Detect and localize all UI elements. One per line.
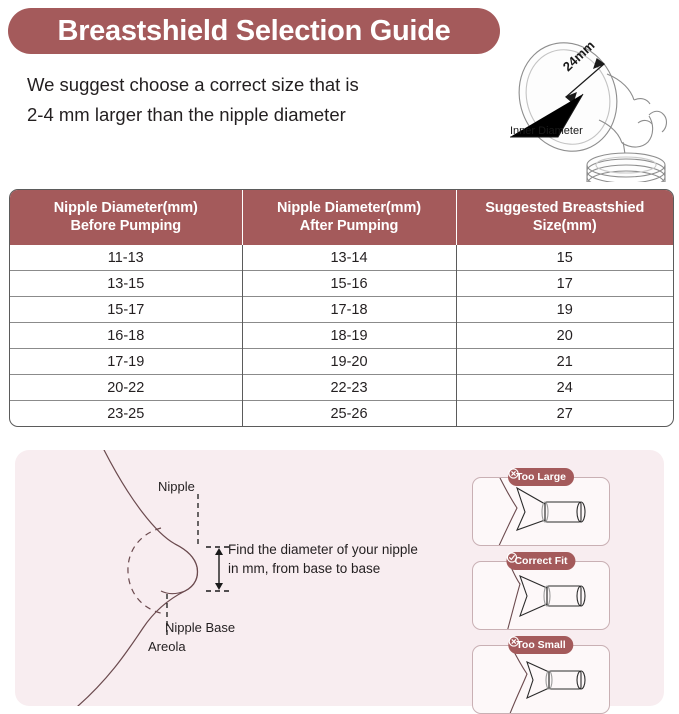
cell-suggested-size: 19: [456, 297, 673, 323]
label-nipple-base: Nipple Base: [165, 620, 235, 635]
table-header-cell-1: Nipple Diameter(mm) After Pumping: [242, 190, 456, 245]
fit-card-too-large: Too Large: [472, 477, 610, 546]
fit-card-correct-fit: Correct Fit: [472, 561, 610, 630]
cell-after-pumping: 22-23: [242, 375, 456, 401]
header-line-2: After Pumping: [247, 217, 452, 235]
flange-too-large-drawing: [473, 478, 609, 545]
table-row: 16-18 18-19 20: [10, 323, 673, 349]
cell-suggested-size: 24: [456, 375, 673, 401]
cross-circle-icon: [508, 468, 519, 479]
cell-suggested-size: 15: [456, 245, 673, 271]
cell-after-pumping: 17-18: [242, 297, 456, 323]
table-header-row: Nipple Diameter(mm) Before Pumping Nippl…: [10, 190, 673, 245]
page-title: Breastshield Selection Guide: [58, 17, 451, 46]
header-line-1: Nipple Diameter(mm): [14, 199, 238, 217]
table-row: 20-22 22-23 24: [10, 375, 673, 401]
fit-badge-label: Correct Fit: [514, 555, 567, 567]
anatomy-drawing: [15, 450, 475, 706]
label-nipple: Nipple: [158, 479, 195, 494]
header-line-2: Size(mm): [461, 217, 670, 235]
fit-badge-label: Too Large: [516, 471, 566, 483]
cross-circle-icon: [508, 636, 519, 647]
breastshield-drawing: 24mm Inner Diameter: [486, 2, 679, 182]
measure-line-1: Find the diameter of your nipple: [228, 540, 418, 559]
cell-after-pumping: 25-26: [242, 401, 456, 427]
header-line-2: Before Pumping: [14, 217, 238, 235]
table-row: 11-13 13-14 15: [10, 245, 673, 271]
fit-badge-correct-fit: Correct Fit: [506, 552, 575, 570]
fit-card-too-small: Too Small: [472, 645, 610, 714]
cell-suggested-size: 17: [456, 271, 673, 297]
measure-instruction: Find the diameter of your nipple in mm, …: [228, 540, 418, 578]
table-header-cell-0: Nipple Diameter(mm) Before Pumping: [10, 190, 242, 245]
inner-diameter-caption: Inner Diameter: [510, 125, 583, 137]
cell-suggested-size: 27: [456, 401, 673, 427]
breastshield-illustration: 24mm Inner Diameter: [486, 2, 679, 182]
size-table: Nipple Diameter(mm) Before Pumping Nippl…: [10, 190, 673, 426]
header-line-1: Suggested Breastshied: [461, 199, 670, 217]
cell-before-pumping: 23-25: [10, 401, 242, 427]
flange-too-small-drawing: [473, 646, 609, 713]
fit-badge-too-small: Too Small: [508, 636, 573, 654]
check-circle-icon: [506, 552, 517, 563]
table-row: 13-15 15-16 17: [10, 271, 673, 297]
fit-badge-too-large: Too Large: [508, 468, 574, 486]
breast-anatomy-diagram: [15, 450, 475, 706]
header-line-1: Nipple Diameter(mm): [247, 199, 452, 217]
cell-suggested-size: 21: [456, 349, 673, 375]
label-areola: Areola: [148, 639, 186, 654]
cell-before-pumping: 17-19: [10, 349, 242, 375]
table-row: 15-17 17-18 19: [10, 297, 673, 323]
measure-line-2: in mm, from base to base: [228, 559, 418, 578]
page-title-banner: Breastshield Selection Guide: [8, 8, 500, 54]
cell-after-pumping: 13-14: [242, 245, 456, 271]
fit-badge-label: Too Small: [516, 639, 565, 651]
cell-before-pumping: 20-22: [10, 375, 242, 401]
cell-after-pumping: 15-16: [242, 271, 456, 297]
cell-before-pumping: 15-17: [10, 297, 242, 323]
flange-correct-fit-drawing: [473, 562, 609, 629]
cell-suggested-size: 20: [456, 323, 673, 349]
intro-line-2: 2-4 mm larger than the nipple diameter: [27, 100, 447, 130]
table-row: 23-25 25-26 27: [10, 401, 673, 427]
intro-line-1: We suggest choose a correct size that is: [27, 70, 447, 100]
intro-text: We suggest choose a correct size that is…: [27, 70, 447, 130]
cell-after-pumping: 19-20: [242, 349, 456, 375]
cell-before-pumping: 16-18: [10, 323, 242, 349]
cell-before-pumping: 13-15: [10, 271, 242, 297]
cell-after-pumping: 18-19: [242, 323, 456, 349]
table-body: 11-13 13-14 15 13-15 15-16 17 15-17 17-1…: [10, 245, 673, 426]
table-row: 17-19 19-20 21: [10, 349, 673, 375]
table-header-cell-2: Suggested Breastshied Size(mm): [456, 190, 673, 245]
cell-before-pumping: 11-13: [10, 245, 242, 271]
size-table-container: Nipple Diameter(mm) Before Pumping Nippl…: [9, 189, 674, 427]
